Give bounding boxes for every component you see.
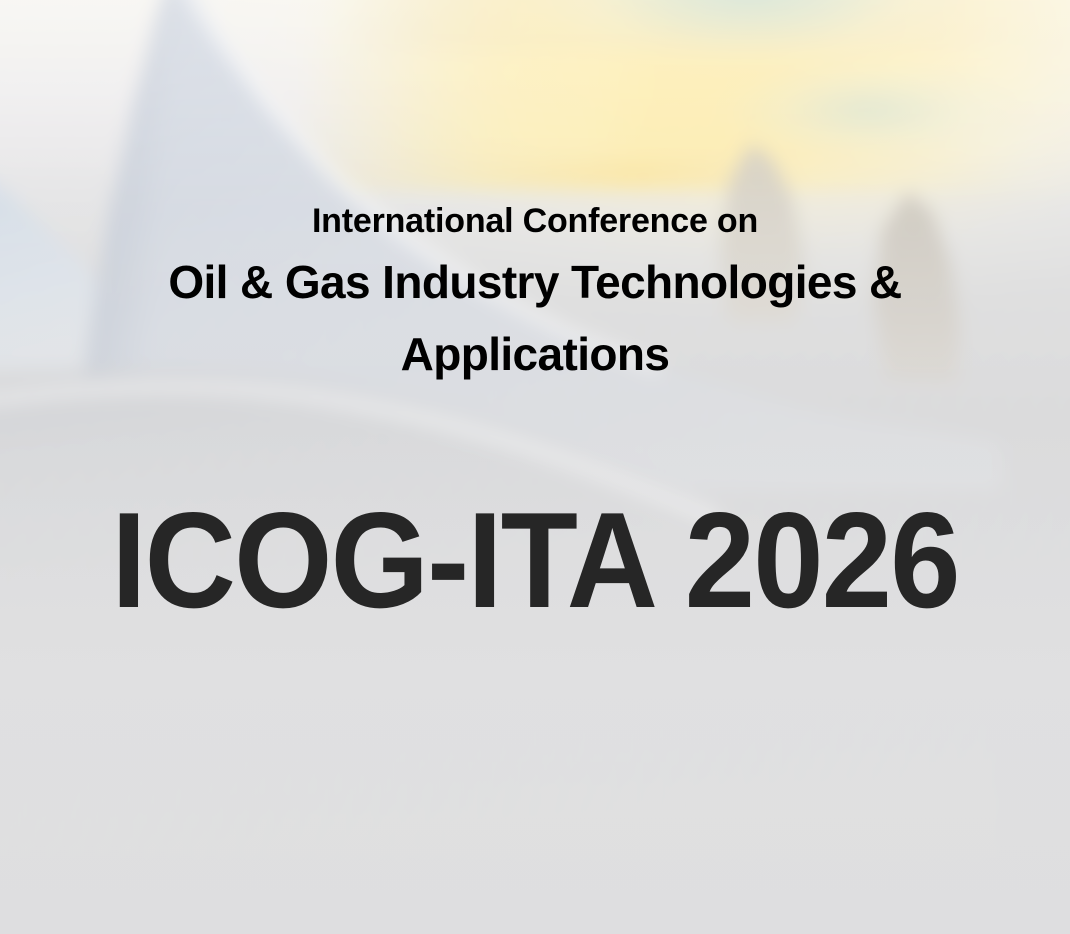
subtitle-line-3: Applications [0, 318, 1070, 390]
conference-banner: International Conference on Oil & Gas In… [0, 0, 1070, 934]
page-title: ICOG-ITA 2026 [37, 486, 1032, 634]
subtitle-line-1: International Conference on [0, 196, 1070, 246]
subtitle-line-2: Oil & Gas Industry Technologies & [0, 246, 1070, 318]
conference-subtitle: International Conference on Oil & Gas In… [0, 196, 1070, 390]
banner-content: International Conference on Oil & Gas In… [0, 0, 1070, 934]
